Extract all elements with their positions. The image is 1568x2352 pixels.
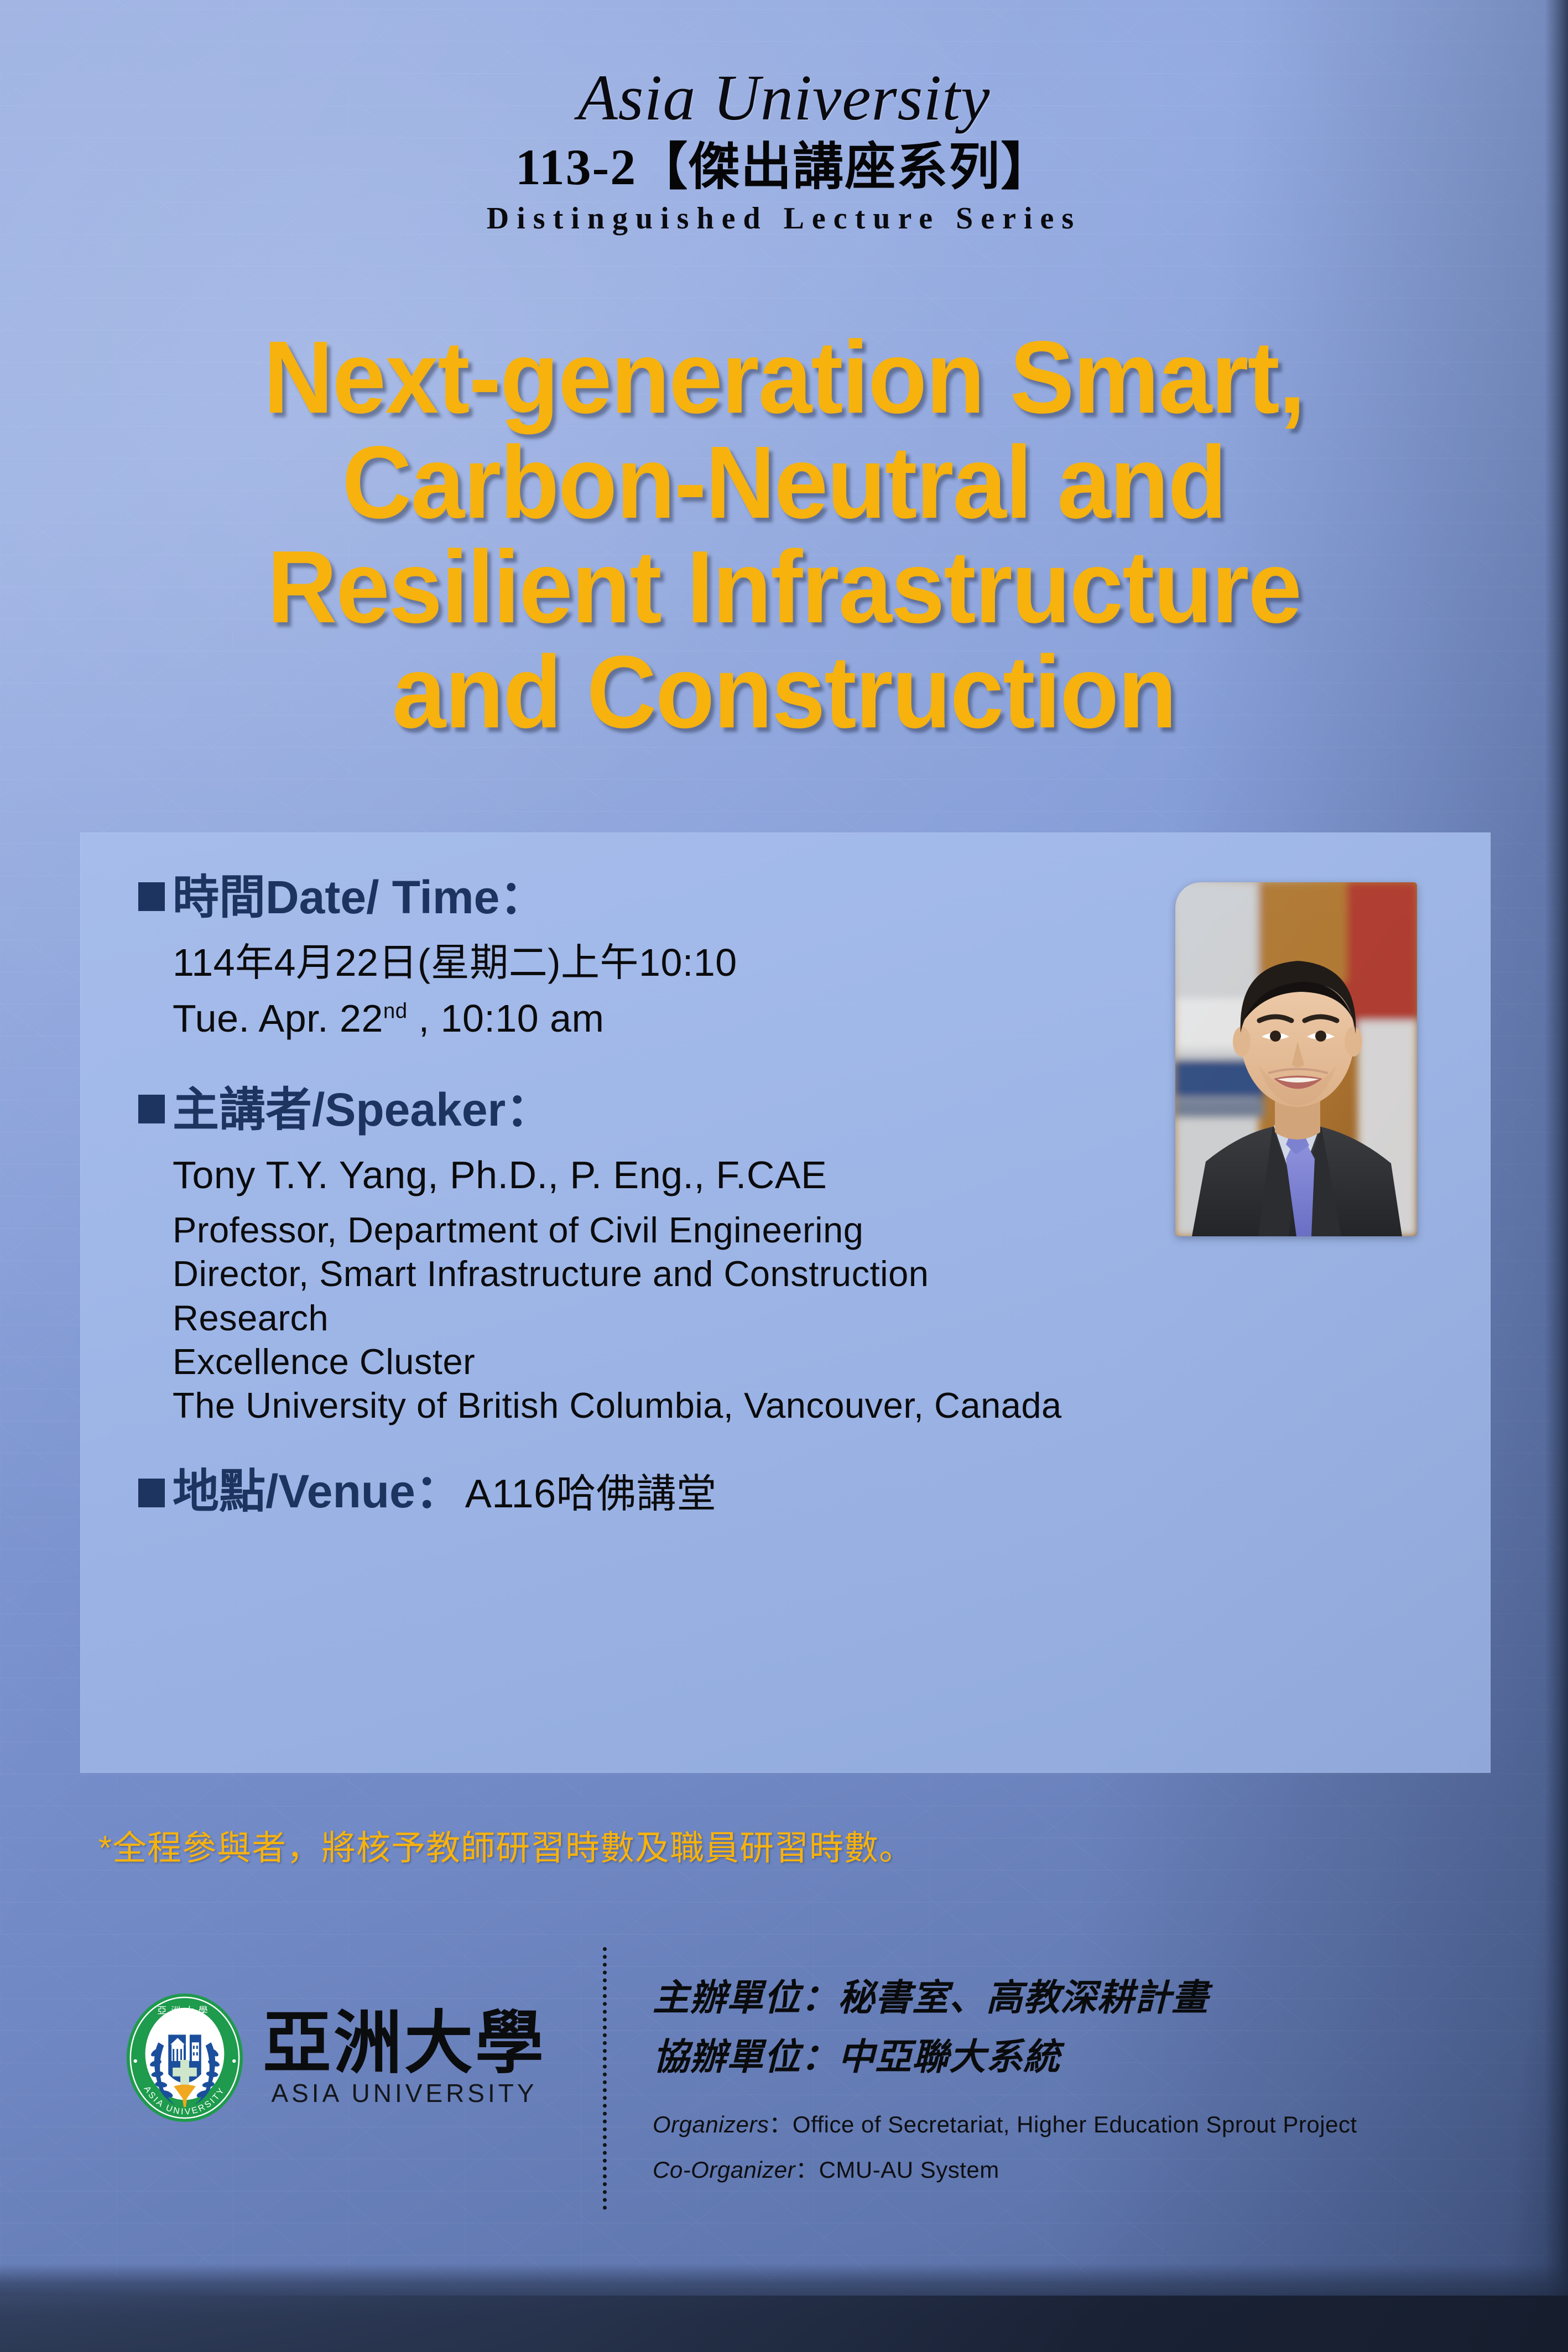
logo-name-en: ASIA UNIVERSITY xyxy=(271,2080,537,2106)
bullet-square-icon xyxy=(138,882,165,911)
logo-name-cn: 亞洲大學 xyxy=(263,2010,546,2078)
coorganizer-cn: 協辦單位：中亞聯大系統 xyxy=(653,2027,1357,2086)
university-name: Asia University xyxy=(0,65,1568,131)
background-right-edge-shade xyxy=(1545,0,1568,2352)
poster-header: Asia University 113-2【傑出講座系列】 Distinguis… xyxy=(0,65,1568,234)
datetime-heading-label: 時間Date/ Time： xyxy=(173,871,546,923)
datetime-en-ordinal: nd xyxy=(383,1000,408,1023)
series-title-cn: 113-2【傑出講座系列】 xyxy=(0,141,1568,194)
page-title: Next-generation Smart, Carbon-Neutral an… xyxy=(110,325,1458,745)
title-line-4: and Construction xyxy=(110,640,1458,745)
coorganizer-en-label: Co-Organizer xyxy=(653,2157,795,2183)
asia-university-logo: 亞洲大學 ASIA UNIVERSITY xyxy=(119,1989,556,2127)
series-title-en: Distinguished Lecture Series xyxy=(0,203,1568,234)
title-line-2: Carbon-Neutral and xyxy=(110,430,1458,535)
background-bottom-band xyxy=(0,2263,1568,2352)
bullet-square-icon xyxy=(138,1095,165,1123)
speaker-photo xyxy=(1175,882,1417,1236)
datetime-en-pre: Tue. Apr. 22 xyxy=(173,997,383,1040)
venue-heading: 地點/Venue： A116哈佛講堂 xyxy=(138,1465,1468,1517)
attendance-note: *全程參與者，將核予教師研習時數及職員研習時數。 xyxy=(98,1820,914,1870)
title-line-1: Next-generation Smart, xyxy=(110,325,1458,430)
datetime-en-post: , 10:10 am xyxy=(408,997,605,1040)
speaker-heading-label: 主講者/Speaker： xyxy=(173,1084,552,1136)
footer-divider xyxy=(603,1947,607,2210)
organizer-en-value: ：Office of Secretariat, Higher Education… xyxy=(769,2111,1357,2137)
organizer-en: Organizers：Office of Secretariat, Higher… xyxy=(653,2102,1357,2147)
venue-heading-label: 地點/Venue： xyxy=(173,1465,462,1517)
organizer-en-label: Organizers xyxy=(653,2111,769,2137)
background-bottom-band-inner xyxy=(0,2296,1568,2352)
organizers-block: 主辦單位：秘書室、高教深耕計畫 協辦單位：中亞聯大系統 Organizers：O… xyxy=(653,1968,1357,2193)
speaker-affiliation-line: Director, Smart Infrastructure and Const… xyxy=(173,1252,1468,1295)
organizer-cn: 主辦單位：秘書室、高教深耕計畫 xyxy=(653,1968,1357,2027)
title-line-3: Resilient Infrastructure xyxy=(110,535,1458,640)
lecture-poster: Asia University 113-2【傑出講座系列】 Distinguis… xyxy=(0,0,1568,2352)
svg-text:亞洲大學: 亞洲大學 xyxy=(157,2006,212,2016)
speaker-affiliation-line: The University of British Columbia, Vanc… xyxy=(173,1383,1468,1427)
bullet-square-icon xyxy=(138,1479,165,1507)
university-seal-icon: 亞洲大學 ASIA UNIVERSITY xyxy=(119,1992,251,2124)
speaker-affiliation-line: Excellence Cluster xyxy=(173,1340,1468,1383)
coorganizer-en-value: ：CMU-AU System xyxy=(795,2157,999,2183)
coorganizer-en: Co-Organizer：CMU-AU System xyxy=(653,2147,1357,2193)
speaker-affiliation-line: Research xyxy=(173,1296,1468,1340)
venue-value: A116哈佛講堂 xyxy=(465,1472,717,1517)
